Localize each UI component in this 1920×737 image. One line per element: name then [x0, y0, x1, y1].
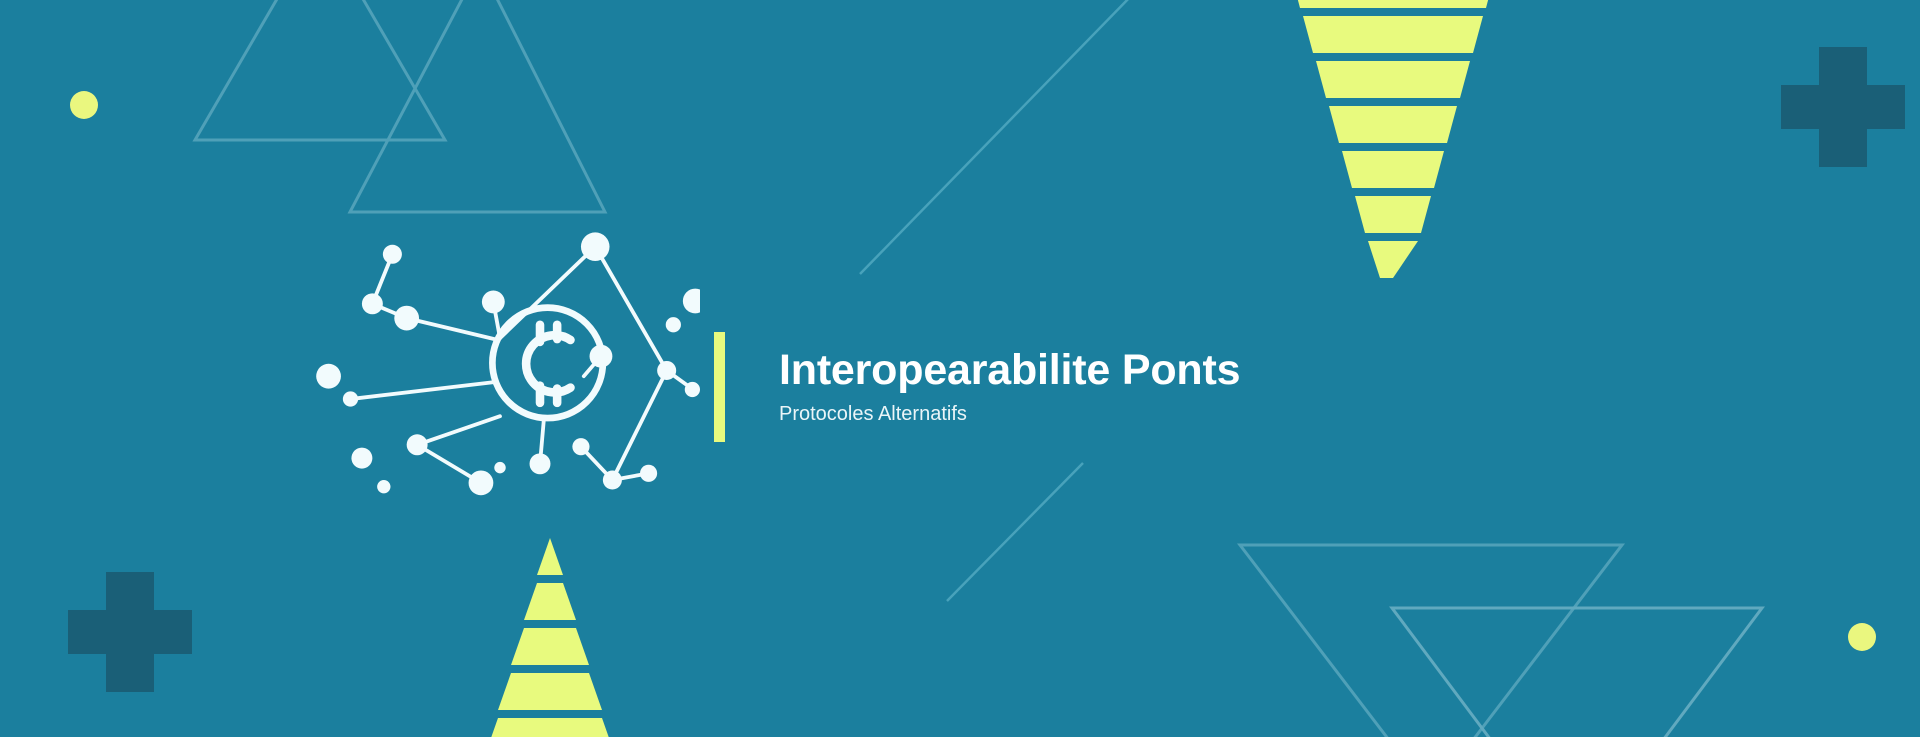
coin-c-symbol — [526, 325, 570, 403]
page-subtitle: Protocoles Alternatifs — [779, 403, 1240, 426]
network-links — [350, 247, 690, 483]
yellow-dot-top-left — [70, 91, 98, 119]
promo-banner: Interopearabilite Ponts Protocoles Alter… — [0, 0, 1920, 737]
banner-text-block: Interopearabilite Ponts Protocoles Alter… — [714, 332, 1240, 442]
yellow-dot-bottom-right — [1848, 623, 1876, 651]
network-nodes — [316, 232, 700, 495]
title-text-group: Interopearabilite Ponts Protocoles Alter… — [779, 332, 1240, 442]
coin-circle — [492, 308, 602, 418]
blockchain-network-icon — [300, 180, 700, 580]
page-title: Interopearabilite Ponts — [779, 348, 1240, 393]
title-accent-bar — [714, 332, 725, 442]
